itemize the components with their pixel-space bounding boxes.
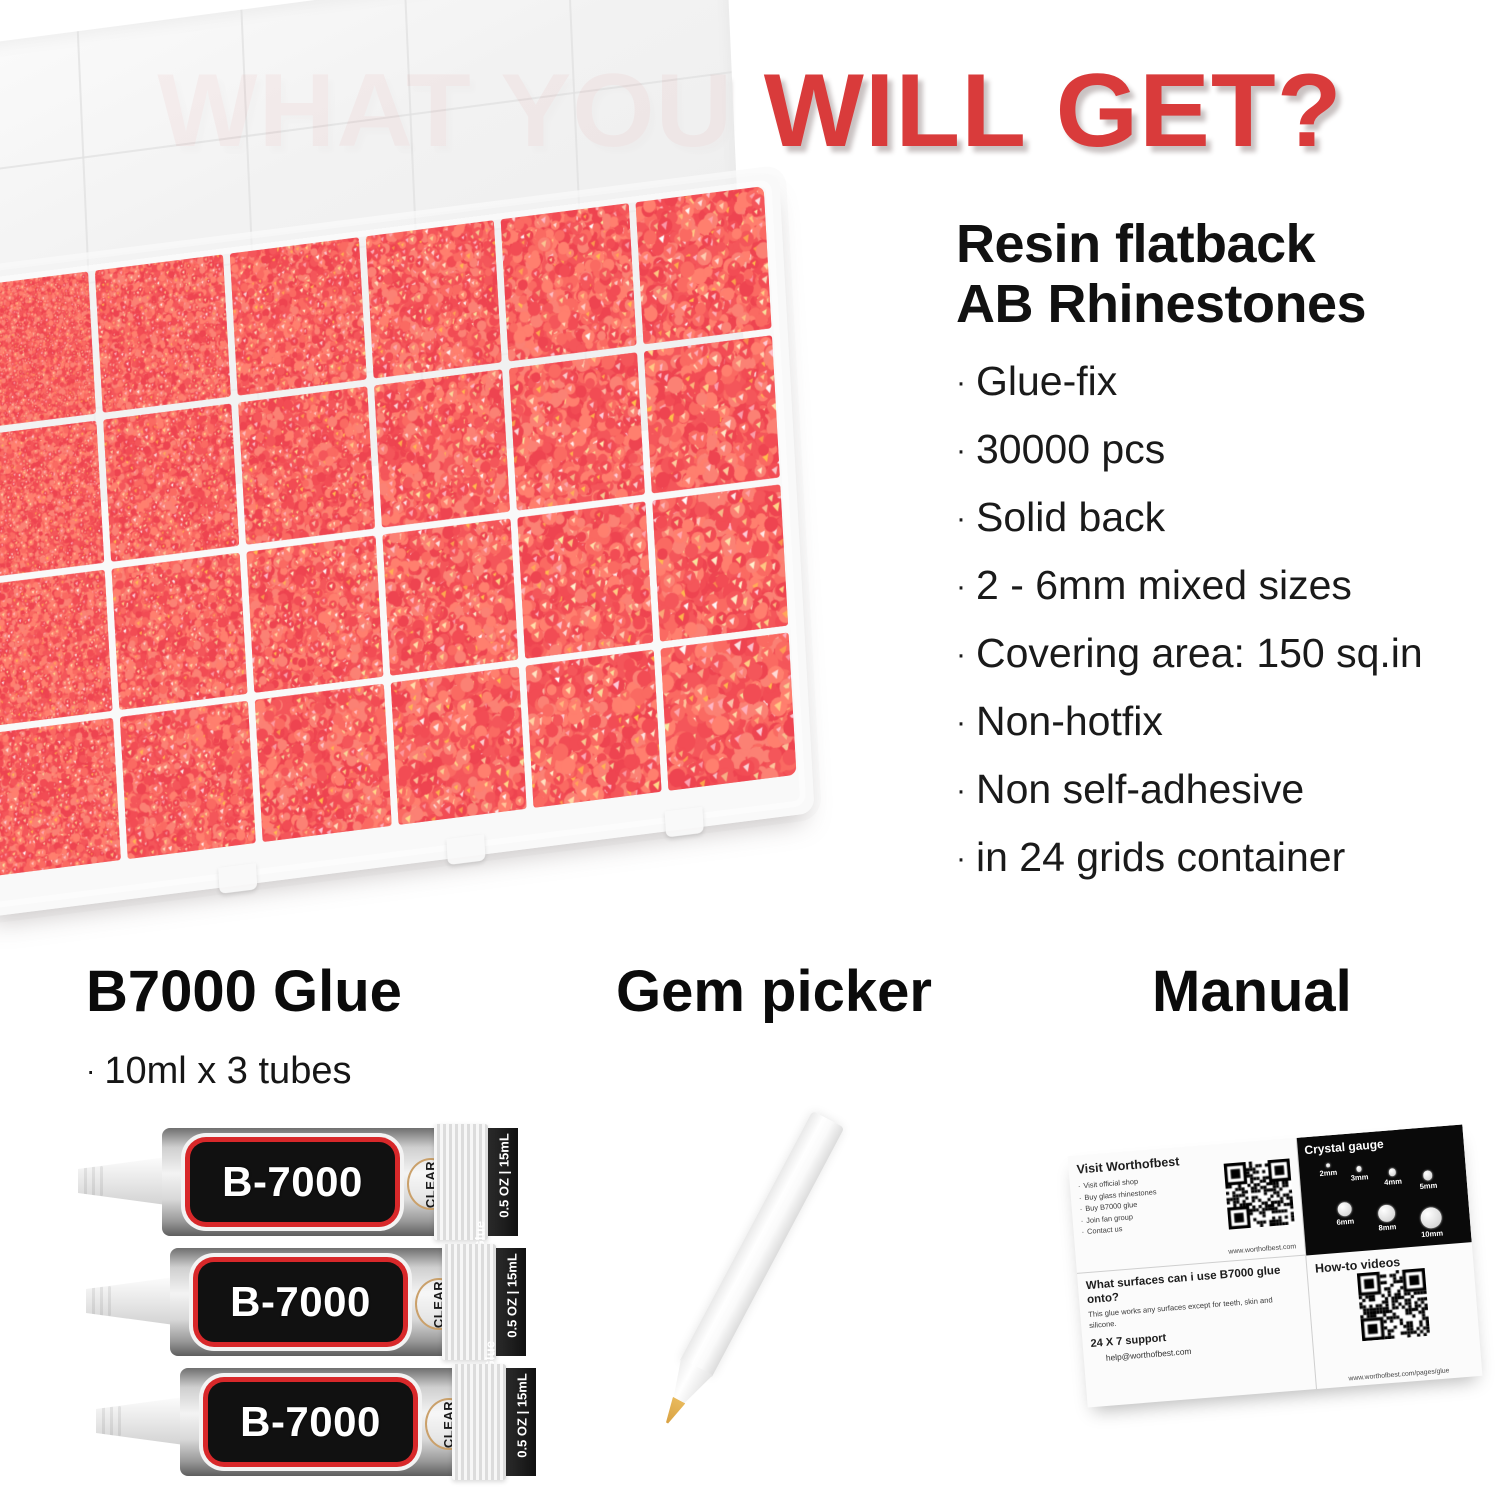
crystal-gauge-stone [1337, 1202, 1352, 1217]
tube-nozzle [86, 1276, 182, 1326]
spec-heading-line2: AB Rhinestones [956, 274, 1500, 334]
container-latch [446, 834, 485, 865]
rhinestone-grid-cell [255, 684, 391, 842]
spec-bullet-label: 2 - 6mm mixed sizes [976, 562, 1352, 608]
spec-bullet-label: Non-hotfix [976, 698, 1163, 744]
tube-volume-label: 0.5 OZ | 15mL [505, 1248, 520, 1344]
manual-crystal-gauge-panel: Crystal gauge 2mm3mm4mm5mm6mm8mm10mm [1296, 1125, 1471, 1256]
spec-bullet-item: ·Covering area: 150 sq.in [956, 620, 1500, 688]
spec-bullet-item: ·Solid back [956, 484, 1500, 552]
bullet-dot: · [956, 570, 966, 603]
crystal-gauge-chart: 2mm3mm4mm5mm6mm8mm10mm [1296, 1125, 1471, 1256]
crystal-gauge-size-label: 6mm [1325, 1216, 1366, 1228]
rhinestone-grid-cell [635, 186, 771, 344]
pencil-shaft [680, 1111, 844, 1377]
qr-code-shop-icon [1223, 1159, 1294, 1230]
rhinestone-grid-cell [0, 718, 121, 876]
crystal-gauge-item: 8mm [1364, 1203, 1409, 1233]
qr-code-video-icon [1357, 1268, 1430, 1341]
container-latch [218, 863, 257, 894]
rhinestone-grid-cell [247, 535, 383, 693]
rhinestone-grid-cell [95, 254, 231, 412]
tube-body: B-7000CLEARMulti-Purpose Glue0.5 OZ | 15… [170, 1248, 470, 1356]
spec-bullet-label: Glue-fix [976, 358, 1117, 404]
crystal-gauge-stone [1326, 1163, 1330, 1167]
glue-subtitle-text: 10ml x 3 tubes [104, 1050, 351, 1092]
rhinestone-grid-cell [382, 518, 518, 676]
crystal-gauge-item: 6mm [1324, 1201, 1366, 1228]
spec-bullet-item: ·2 - 6mm mixed sizes [956, 552, 1500, 620]
bullet-dot: · [956, 434, 966, 467]
rhinestone-grid [0, 186, 796, 876]
crystal-gauge-item: 10mm [1407, 1205, 1456, 1240]
bullet-dot: · [1079, 1193, 1082, 1202]
manual-visit-item-label: Contact us [1087, 1225, 1123, 1237]
manual-card-image: Visit Worthofbest ·Visit official shop·B… [1068, 1125, 1483, 1408]
rhinestone-grid-cell [0, 569, 113, 727]
spec-bullet-item: ·Non self-adhesive [956, 756, 1500, 824]
crystal-gauge-item: 5mm [1410, 1169, 1447, 1191]
glue-tube: B-7000CLEARMulti-Purpose Glue0.5 OZ | 15… [78, 1128, 498, 1236]
crystal-gauge-size-label: 10mm [1408, 1227, 1456, 1240]
spec-bullet-label: Non self-adhesive [976, 766, 1304, 812]
rhinestone-grid-cell [374, 369, 510, 527]
rhinestone-grid-cell [660, 633, 796, 791]
bullet-dot: · [956, 638, 966, 671]
rhinestone-grid-cell [644, 335, 780, 493]
section-heading-gem-picker: Gem picker [616, 958, 932, 1025]
tube-body: B-7000CLEARMulti-Purpose Glue0.5 OZ | 15… [162, 1128, 462, 1236]
crystal-gauge-size-label: 4mm [1376, 1175, 1410, 1187]
container-body [0, 172, 815, 918]
gem-picker-image [655, 1110, 955, 1450]
spec-bullet-label: Covering area: 150 sq.in [976, 630, 1423, 676]
crystal-gauge-stone [1423, 1170, 1433, 1180]
rhinestone-grid-cell [525, 650, 661, 808]
section-heading-manual: Manual [1152, 958, 1352, 1025]
spec-bullet-list: ·Glue-fix·30000 pcs·Solid back·2 - 6mm m… [956, 348, 1500, 892]
rhinestone-grid-cell [0, 420, 104, 578]
bullet-dot: · [956, 366, 966, 399]
product-spec-panel: Resin flatback AB Rhinestones ·Glue-fix·… [956, 214, 1500, 892]
crystal-gauge-stone [1377, 1204, 1395, 1222]
bullet-dot: · [1081, 1228, 1084, 1237]
manual-visit-panel: Visit Worthofbest ·Visit official shop·B… [1068, 1138, 1306, 1274]
rhinestone-grid-cell [365, 220, 501, 378]
section-heading-glue: B7000 Glue [86, 958, 402, 1025]
tube-brand-badge: B-7000 [198, 1262, 403, 1342]
bullet-dot: · [956, 842, 966, 875]
bullet-dot: · [956, 502, 966, 535]
tube-brand-label: B-7000 [208, 1382, 413, 1462]
rhinestone-grid-cell [652, 484, 788, 642]
spec-bullet-item: ·in 24 grids container [956, 824, 1500, 892]
bullet-dot: · [86, 1055, 95, 1086]
bullet-dot: · [1080, 1216, 1083, 1225]
gem-picker-pencil [658, 1111, 845, 1419]
spec-bullet-label: 30000 pcs [976, 426, 1165, 472]
spec-bullet-item: ·Non-hotfix [956, 688, 1500, 756]
spec-bullet-item: ·30000 pcs [956, 416, 1500, 484]
glue-tube: B-7000CLEARMulti-Purpose Glue0.5 OZ | 15… [86, 1248, 506, 1356]
crystal-gauge-stone [1388, 1168, 1396, 1176]
crystal-gauge-item: 3mm [1343, 1165, 1376, 1183]
tube-body: B-7000CLEARMulti-Purpose Glue0.5 OZ | 15… [180, 1368, 480, 1476]
tube-crimp [452, 1364, 506, 1480]
glue-tube: B-7000CLEARMulti-Purpose Glue0.5 OZ | 15… [96, 1368, 516, 1476]
rhinestone-grid-cell [120, 701, 256, 859]
bullet-dot: · [956, 706, 966, 739]
spec-heading-line1: Resin flatback [956, 214, 1500, 274]
spec-bullet-label: in 24 grids container [976, 834, 1345, 880]
tube-volume-strip: 0.5 OZ | 15mL [488, 1128, 518, 1236]
tube-brand-badge: B-7000 [190, 1142, 395, 1222]
tube-nozzle [96, 1396, 192, 1446]
crystal-gauge-item: 4mm [1375, 1167, 1410, 1187]
rhinestone-grid-cell [0, 271, 96, 429]
manual-faq-panel: What surfaces can i use B7000 glue onto?… [1077, 1256, 1317, 1408]
crystal-gauge-stone [1420, 1207, 1443, 1230]
bullet-dot: · [1079, 1204, 1082, 1213]
crystal-gauge-item: 2mm [1313, 1162, 1344, 1178]
rhinestone-grid-cell [500, 203, 636, 361]
spec-bullet-label: Solid back [976, 494, 1165, 540]
crystal-gauge-size-label: 2mm [1313, 1167, 1344, 1178]
crystal-gauge-size-label: 8mm [1366, 1221, 1410, 1233]
rhinestone-grid-cell [509, 352, 645, 510]
manual-video-panel: How-to videos www.worthofbest.com/pages/… [1306, 1243, 1482, 1389]
crystal-gauge-size-label: 3mm [1343, 1171, 1375, 1182]
tube-brand-badge: B-7000 [208, 1382, 413, 1462]
crystal-gauge-stone [1356, 1166, 1362, 1172]
rhinestone-grid-cell [517, 501, 653, 659]
tube-nozzle [78, 1156, 174, 1206]
tube-volume-strip: 0.5 OZ | 15mL [506, 1368, 536, 1476]
rhinestone-grid-cell [390, 667, 526, 825]
tube-brand-label: B-7000 [198, 1262, 403, 1342]
rhinestone-container-image [0, 195, 840, 900]
tube-volume-label: 0.5 OZ | 15mL [497, 1128, 512, 1224]
bullet-dot: · [1078, 1181, 1081, 1190]
manual-video-url: www.worthofbest.com/pages/glue [1316, 1365, 1482, 1385]
tube-volume-label: 0.5 OZ | 15mL [515, 1368, 530, 1464]
bullet-dot: · [956, 774, 966, 807]
infographic-canvas: WHAT YOU WILL GET? Resin flatback AB Rhi… [0, 0, 1500, 1492]
rhinestone-grid-cell [230, 237, 366, 395]
rhinestone-grid-cell [238, 386, 374, 544]
tube-brand-label: B-7000 [190, 1142, 395, 1222]
rhinestone-grid-cell [112, 552, 248, 710]
container-latch [665, 807, 704, 838]
rhinestone-grid-cell [103, 403, 239, 561]
manual-visit-url: www.worthofbest.com [1228, 1244, 1296, 1256]
tube-volume-strip: 0.5 OZ | 15mL [496, 1248, 526, 1356]
spec-bullet-item: ·Glue-fix [956, 348, 1500, 416]
crystal-gauge-size-label: 5mm [1410, 1180, 1446, 1192]
glue-subtitle: ·10ml x 3 tubes [86, 1050, 351, 1093]
